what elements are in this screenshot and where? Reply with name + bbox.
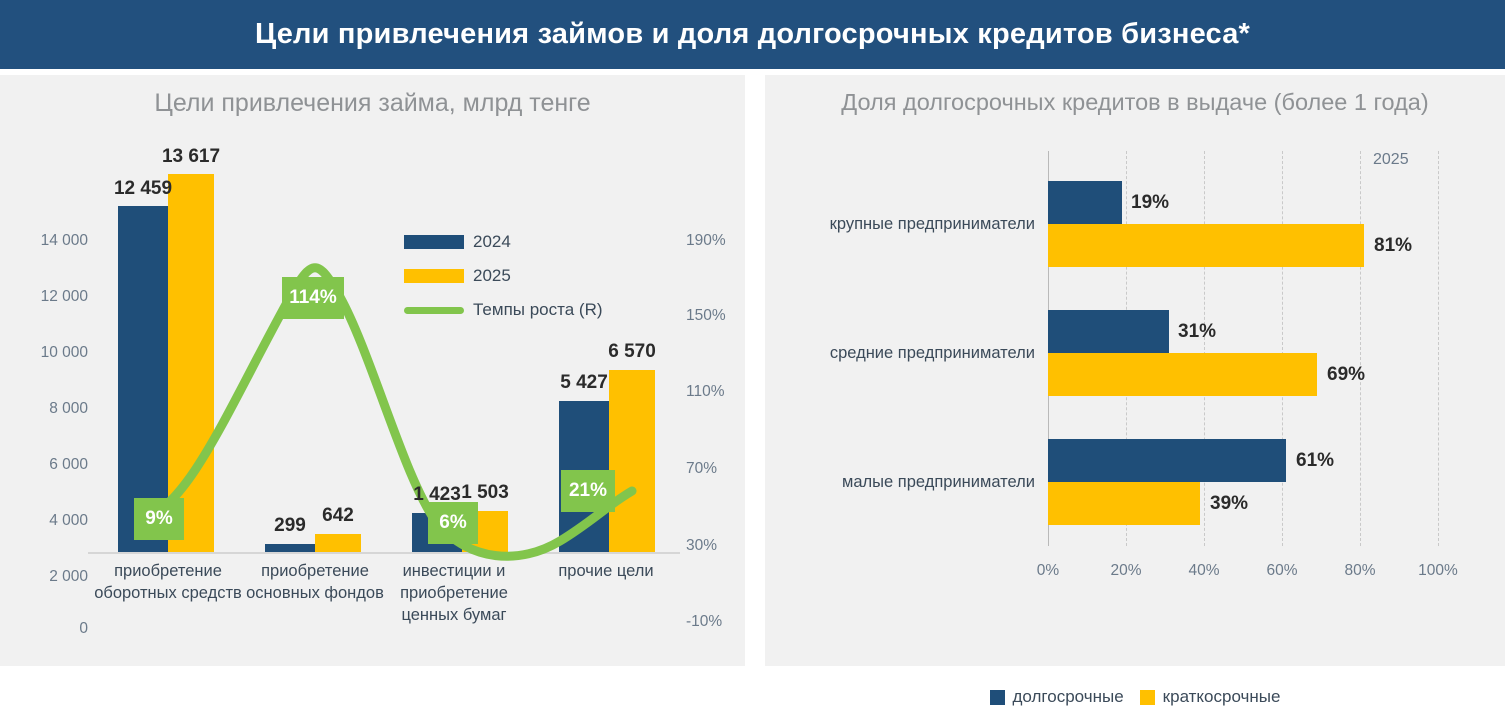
bar-value-label: 642 — [294, 505, 382, 527]
legend-label: 2025 — [473, 266, 511, 286]
x-axis-tick: 60% — [1252, 562, 1312, 580]
year-annotation: 2025 — [1373, 151, 1409, 169]
right-chart-panel: Доля долгосрочных кредитов в выдаче (бол… — [765, 75, 1505, 666]
bar-value-label: 12 459 — [93, 178, 193, 200]
growth-callout: 9% — [134, 498, 184, 540]
x-axis-tick: 20% — [1096, 562, 1156, 580]
bar-value-label: 39% — [1210, 493, 1248, 515]
bar-value-label: 19% — [1131, 192, 1169, 214]
bar-long-term — [1048, 181, 1122, 224]
legend-line-icon — [404, 307, 464, 314]
row-label: малые предприниматели — [805, 473, 1035, 492]
legend-label: 2024 — [473, 232, 511, 252]
bar-value-label: 31% — [1178, 321, 1216, 343]
category-label: приобретениеосновных фондов — [231, 561, 399, 605]
growth-callout: 21% — [561, 470, 615, 512]
growth-callout: 6% — [428, 502, 478, 544]
legend-label: краткосрочные — [1163, 687, 1281, 707]
legend-item-short-term[interactable]: краткосрочные — [1140, 687, 1281, 707]
gridline — [1204, 151, 1205, 546]
legend-swatch-icon — [404, 235, 464, 249]
gridline — [1438, 151, 1439, 546]
row-label: крупные предприниматели — [805, 215, 1035, 234]
category-label: инвестиции иприобретениеценных бумаг — [378, 561, 530, 627]
x-axis-tick: 100% — [1408, 562, 1468, 580]
gridline — [1360, 151, 1361, 546]
x-axis-tick: 80% — [1330, 562, 1390, 580]
x-axis-tick: 0% — [1018, 562, 1078, 580]
category-label: приобретениеоборотных средств — [82, 561, 254, 605]
bar-value-label: 1 503 — [435, 482, 535, 504]
growth-callout: 114% — [282, 277, 344, 319]
bar-value-label: 69% — [1327, 364, 1365, 386]
bar-value-label: 5 427 — [534, 372, 634, 394]
infographic-page: Цели привлечения займов и доля долгосроч… — [0, 0, 1505, 666]
bar-value-label: 13 617 — [141, 146, 241, 168]
bar-short-term — [1048, 224, 1364, 267]
bar-value-label: 6 570 — [582, 341, 682, 363]
category-label: прочие цели — [522, 561, 690, 583]
bar-value-label: 61% — [1296, 450, 1334, 472]
bar-short-term — [1048, 482, 1200, 525]
bar-long-term — [1048, 310, 1169, 353]
left-chart-legend: 2024 2025 Темпы роста (R) — [404, 225, 603, 327]
legend-item-2025[interactable]: 2025 — [404, 259, 603, 293]
right-chart-title: Доля долгосрочных кредитов в выдаче (бол… — [765, 89, 1505, 116]
gridline — [1282, 151, 1283, 546]
page-title: Цели привлечения займов и доля долгосроч… — [255, 18, 1250, 51]
left-chart-panel: Цели привлечения займа, млрд тенге 14 00… — [0, 75, 745, 666]
legend-swatch-icon — [404, 269, 464, 283]
x-axis-tick: 40% — [1174, 562, 1234, 580]
legend-swatch-icon — [990, 690, 1005, 705]
page-header: Цели привлечения займов и доля долгосроч… — [0, 0, 1505, 69]
legend-label: Темпы роста (R) — [473, 300, 603, 320]
bar-value-label: 81% — [1374, 235, 1412, 257]
bar-short-term — [1048, 353, 1317, 396]
right-chart-legend: долгосрочные краткосрочные — [765, 687, 1505, 707]
bar-long-term — [1048, 439, 1286, 482]
legend-swatch-icon — [1140, 690, 1155, 705]
row-label: средние предприниматели — [805, 344, 1035, 363]
legend-item-long-term[interactable]: долгосрочные — [990, 687, 1124, 707]
legend-label: долгосрочные — [1013, 687, 1124, 707]
legend-item-2024[interactable]: 2024 — [404, 225, 603, 259]
legend-item-growth-rate[interactable]: Темпы роста (R) — [404, 293, 603, 327]
